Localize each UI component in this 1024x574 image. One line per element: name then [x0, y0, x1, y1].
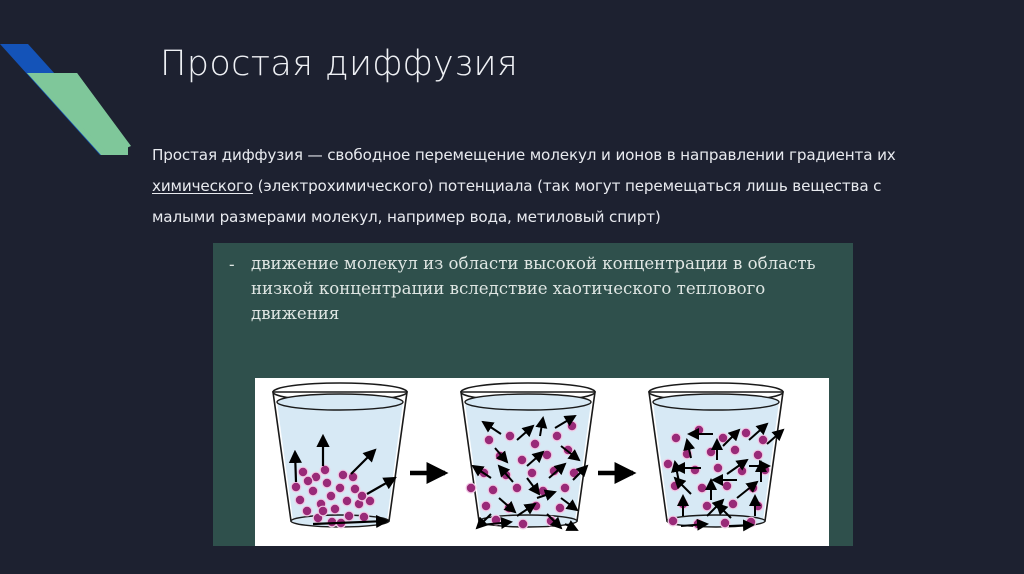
page-title: Простая диффузия: [160, 44, 518, 84]
logo-green-parallelogram-top: [27, 73, 131, 155]
logo-green-parallelogram: [27, 73, 128, 155]
decorative-corner-logo: [0, 30, 135, 155]
body-paragraph: Простая диффузия — свободное перемещение…: [152, 140, 942, 233]
beaker-uniform-distribution: [649, 383, 783, 529]
beaker-high-concentration: [273, 383, 407, 528]
diffusion-illustration: [255, 378, 829, 546]
list-item-label: движение молекул из области высокой конц…: [251, 251, 829, 326]
content-panel: - движение молекул из области высокой ко…: [213, 243, 853, 546]
slide-canvas: Простая диффузия Простая диффузия — своб…: [0, 0, 1024, 574]
body-line-1: Простая диффузия — свободное перемещение…: [152, 146, 877, 164]
logo-blue-parallelogram: [0, 44, 128, 155]
body-line-2-pre: их: [877, 146, 896, 164]
underlined-term: химического: [152, 177, 253, 195]
body-line-2-post: (электрохимического) потенциала (так мог…: [152, 177, 881, 226]
panel-bullet-list: - движение молекул из области высокой ко…: [229, 251, 829, 326]
beaker-mid-diffusion: [461, 383, 595, 530]
bullet-dash: -: [229, 251, 251, 277]
list-item: - движение молекул из области высокой ко…: [229, 251, 829, 326]
